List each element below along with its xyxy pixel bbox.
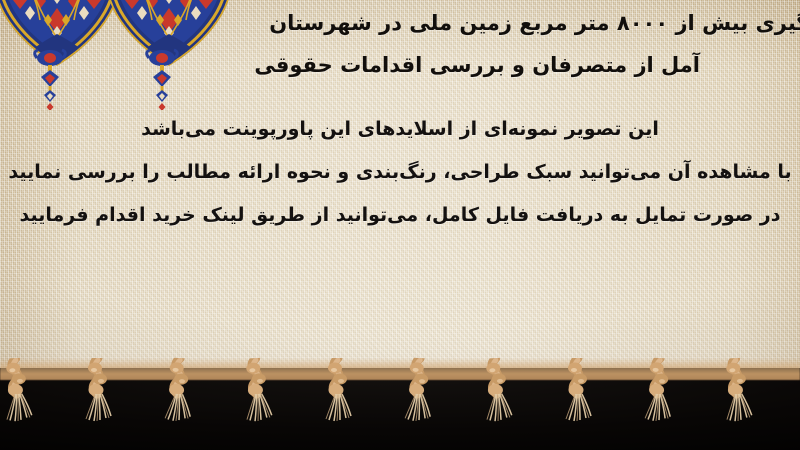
carpet-tassel [478,357,518,445]
title-line-1: یل بازپس‌گیری بیش از ۸۰۰۰ متر مربع زمین … [0,2,800,44]
carpet-tassel [238,357,278,445]
slide-canvas: یل بازپس‌گیری بیش از ۸۰۰۰ متر مربع زمین … [0,0,800,450]
carpet-tassel [718,357,758,445]
body-line-3: در صورت تمایل به دریافت فایل کامل، می‌تو… [0,194,800,237]
body-line-1: این تصویر نمونه‌ای از اسلایدهای این پاور… [0,108,800,151]
carpet-tassel [0,357,38,445]
carpet-tassel [158,357,198,445]
slide-title: یل بازپس‌گیری بیش از ۸۰۰۰ متر مربع زمین … [0,2,800,86]
carpet-tassel [80,358,116,444]
carpet-tassel [320,358,356,444]
body-line-2: با مشاهده آن می‌توانید سبک طراحی، رنگ‌بن… [0,151,800,194]
carpet-tassel [398,357,438,445]
slide-body: این تصویر نمونه‌ای از اسلایدهای این پاور… [0,108,800,237]
carpet-fringe-edge [0,358,800,380]
carpet-tassel [638,357,678,445]
carpet-tassel [560,358,596,444]
title-line-2: آمل از متصرفان و بررسی اقدامات حقوقی [0,44,700,86]
